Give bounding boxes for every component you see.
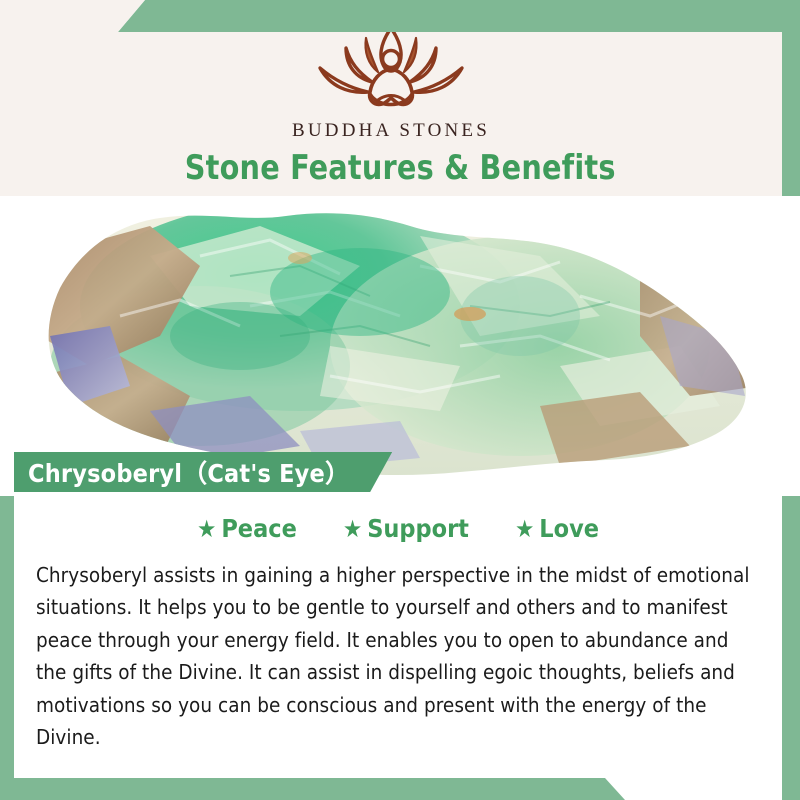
keyword-label: Love	[539, 514, 599, 543]
stone-photo	[0, 196, 800, 496]
stone-benefits-poster: BUDDHA STONES	[0, 0, 800, 800]
star-icon: ★	[197, 517, 216, 541]
keyword-label: Support	[367, 514, 469, 543]
stone-name-text: Chrysoberyl（Cat's Eye）	[28, 454, 350, 490]
keyword-row: ★ Peace ★ Support ★ Love	[14, 492, 782, 543]
lotus-meditation-figure-icon	[306, 22, 476, 114]
star-icon: ★	[515, 517, 534, 541]
keyword-support: ★ Support	[343, 514, 469, 543]
brand-logo: BUDDHA STONES	[0, 22, 782, 142]
keyword-love: ★ Love	[515, 514, 599, 543]
stone-description: Chrysoberyl assists in gaining a higher …	[36, 559, 760, 753]
content-panel: ★ Peace ★ Support ★ Love Chrysoberyl ass…	[14, 492, 782, 778]
star-icon: ★	[343, 517, 362, 541]
keyword-label: Peace	[221, 514, 297, 543]
brand-name: BUDDHA STONES	[292, 120, 490, 142]
stone-name-label: Chrysoberyl（Cat's Eye）	[14, 452, 392, 492]
keyword-peace: ★ Peace	[197, 514, 297, 543]
title-banner: Stone Features & Benefits	[167, 142, 633, 194]
page-title: Stone Features & Benefits	[185, 148, 616, 188]
frame-bottom-accent	[0, 778, 625, 800]
